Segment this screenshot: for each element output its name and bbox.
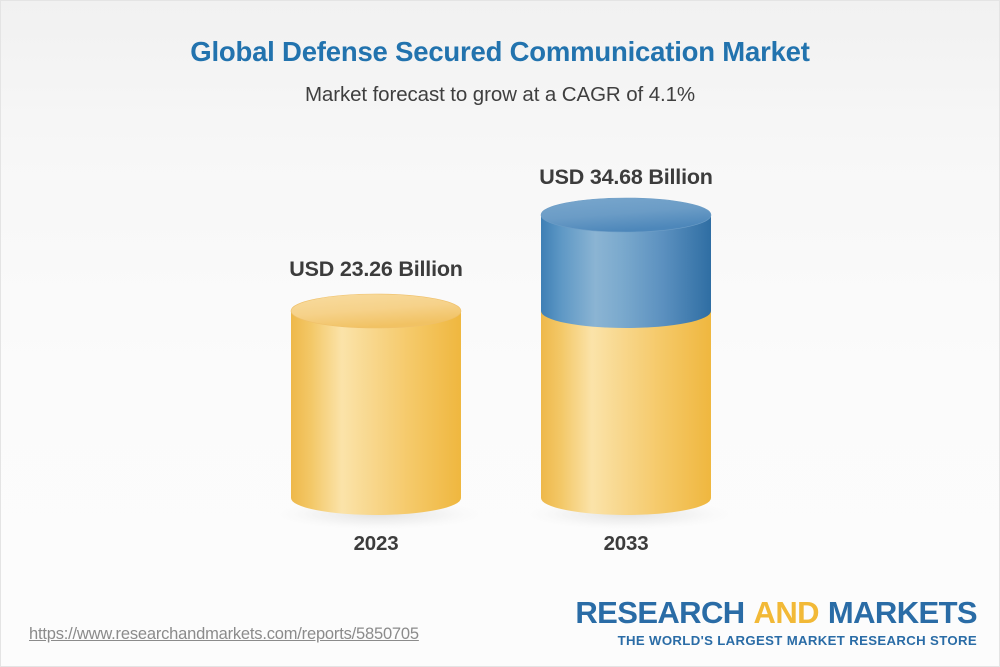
brand-wordmark: RESEARCHANDMARKETS — [575, 597, 977, 628]
category-label-2023: 2023 — [261, 532, 491, 556]
cylinder-top-blue — [541, 198, 711, 232]
brand-word-research: RESEARCH — [575, 595, 744, 630]
cylinder-body-gold — [291, 311, 461, 515]
category-label-2033: 2033 — [511, 532, 741, 556]
brand-word-and: AND — [754, 595, 819, 630]
chart-plot-area: USD 23.26 Billion — [1, 1, 1000, 667]
brand-word-markets: MARKETS — [828, 595, 977, 630]
brand-logo: RESEARCHANDMARKETS THE WORLD'S LARGEST M… — [575, 597, 977, 648]
cylinder-2033 — [511, 1, 741, 667]
brand-tagline: THE WORLD'S LARGEST MARKET RESEARCH STOR… — [575, 633, 977, 648]
cylinder-segment-gold — [541, 311, 711, 521]
cylinder-2023 — [261, 1, 491, 667]
source-url-link[interactable]: https://www.researchandmarkets.com/repor… — [29, 625, 419, 644]
cylinder-top-gold — [291, 294, 461, 328]
infographic-card: Global Defense Secured Communication Mar… — [0, 0, 1000, 667]
